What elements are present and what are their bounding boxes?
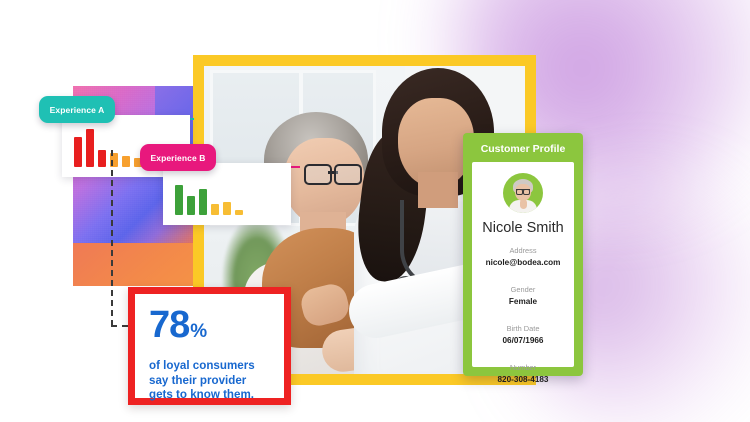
stat-percent-sign: % <box>190 321 206 342</box>
bar <box>199 189 207 215</box>
profile-field-label: Birth Date <box>472 324 574 333</box>
profile-field: GenderFemale <box>472 285 574 306</box>
profile-field-value: 06/07/1966 <box>472 336 574 345</box>
pill-label-text: Experience A <box>50 105 105 115</box>
profile-field: Addressnicole@bodea.com <box>472 246 574 267</box>
stat-number-row: 78% <box>149 306 274 351</box>
label-pill-experience-b[interactable]: Experience B <box>140 144 216 171</box>
profile-field-value: nicole@bodea.com <box>472 258 574 267</box>
bar <box>187 196 195 215</box>
dashed-connector-vertical <box>111 150 113 326</box>
bar <box>223 202 231 215</box>
stat-line-3: gets to know them. <box>149 388 274 403</box>
profile-field-label: Gender <box>472 285 574 294</box>
gradient-orange-strip <box>73 243 195 286</box>
profile-field-label: Number <box>472 363 574 372</box>
stat-line-1: of loyal consumers <box>149 359 274 374</box>
bar <box>98 150 106 167</box>
stat-description: of loyal consumers say their provider ge… <box>149 359 274 403</box>
stat-number: 78 <box>149 304 189 346</box>
bar-group-experience-a <box>74 127 142 167</box>
profile-field-label: Address <box>472 246 574 255</box>
customer-profile-card[interactable]: Customer Profile Nicole Smith Addressnic… <box>463 133 583 376</box>
bar <box>86 129 94 167</box>
label-pill-experience-a[interactable]: Experience A <box>39 96 115 123</box>
stat-callout-box: 78% of loyal consumers say their provide… <box>128 287 291 405</box>
bar <box>175 185 183 215</box>
profile-field-value: Female <box>472 297 574 306</box>
bar <box>74 137 82 167</box>
avatar <box>503 173 543 213</box>
stat-line-2: say their provider <box>149 374 274 389</box>
profile-field: Birth Date06/07/1966 <box>472 324 574 345</box>
profile-card-title: Customer Profile <box>463 143 583 155</box>
profile-card-body: Nicole Smith Addressnicole@bodea.comGend… <box>472 162 574 367</box>
bar-group-experience-b <box>175 175 243 215</box>
profile-field-value: 820-308-4183 <box>472 375 574 384</box>
bar <box>235 210 243 215</box>
chart-card-experience-b <box>163 163 291 225</box>
bar <box>122 156 130 167</box>
profile-field: Number820-308-4183 <box>472 363 574 384</box>
pill-label-text: Experience B <box>150 153 205 163</box>
illustration-canvas: Experience A Experience B 78% of loyal c… <box>0 0 750 422</box>
bar <box>211 204 219 215</box>
profile-name: Nicole Smith <box>472 220 574 236</box>
